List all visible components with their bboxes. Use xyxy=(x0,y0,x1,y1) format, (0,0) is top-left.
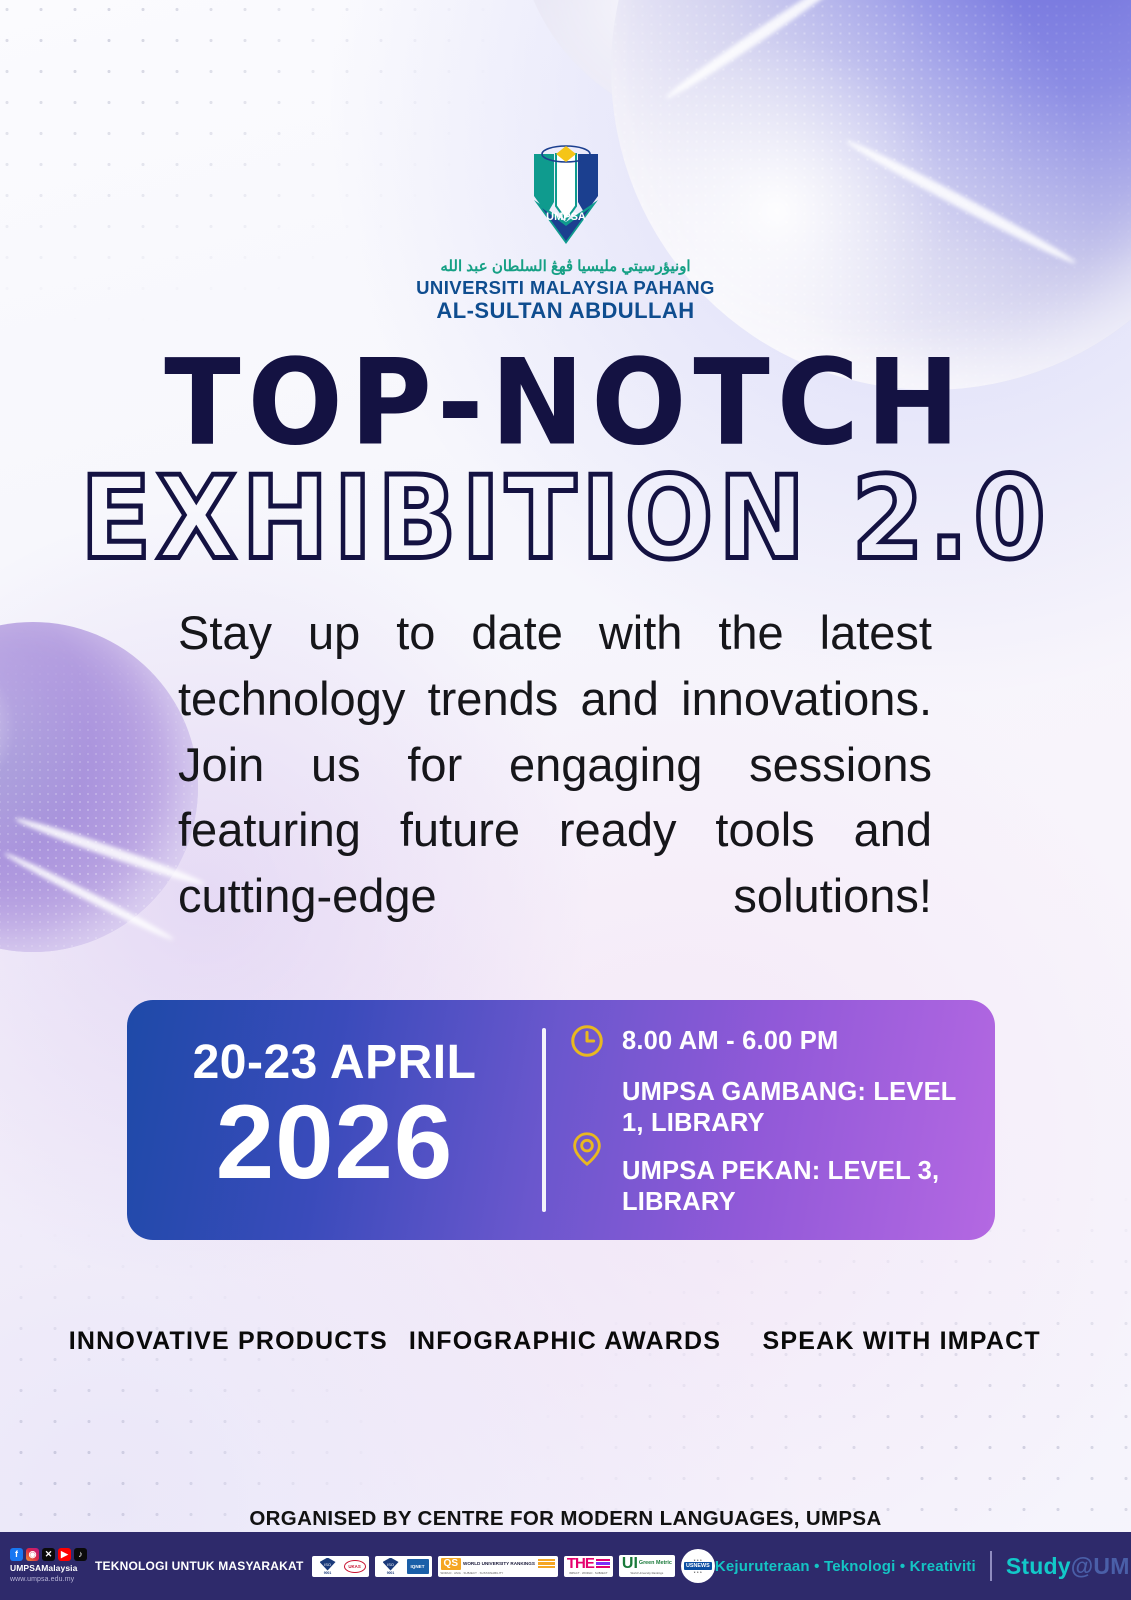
qs-logo-top: QS WORLD UNIVERSITY RANKINGS xyxy=(441,1558,555,1570)
the-caption: IMPACT · WORLD · SUBJECT xyxy=(569,1571,607,1575)
the-bar-graphic xyxy=(596,1559,610,1569)
footer-divider-1 xyxy=(990,1551,992,1581)
event-time-row: 8.00 AM - 6.00 PM xyxy=(568,1022,969,1060)
light-streak xyxy=(2,849,175,943)
logo-line-1: UNIVERSITI MALAYSIA PAHANG xyxy=(0,277,1131,299)
title-line-1: TOP-NOTCH xyxy=(0,347,1131,460)
dot-pattern-bottom-left xyxy=(0,1220,410,1520)
social-column: f ◉ ✕ ▶ ♪ UMPSAMalaysia www.umpsa.edu.my xyxy=(10,1548,87,1584)
ui-caption: World University Rankings xyxy=(631,1571,664,1575)
ukas-mark: UKAS xyxy=(344,1560,366,1573)
ui-mark: UI xyxy=(622,1557,638,1571)
light-streak xyxy=(662,0,859,103)
iso-ukas-cert-badge: ISO 9001 UKAS xyxy=(312,1556,369,1577)
footer-bar: f ◉ ✕ ▶ ♪ UMPSAMalaysia www.umpsa.edu.my… xyxy=(0,1532,1131,1600)
qs-rankings-logo: QS WORLD UNIVERSITY RANKINGS WORLD · ASI… xyxy=(438,1556,558,1577)
description-text: Stay up to date with the latest technolo… xyxy=(178,600,932,995)
qs-bar-graphic xyxy=(538,1559,555,1568)
qs-caption: WORLD · ASIA · SUBJECT · SUSTAINABILITY xyxy=(441,1571,555,1575)
qs-mark: QS xyxy=(441,1558,461,1570)
iso-standard-number: 9001 xyxy=(324,1571,332,1575)
iso-iqnet-cert-badge: ISO 9001 IQNET xyxy=(375,1556,432,1577)
usnews-mark: USNEWS xyxy=(684,1562,712,1570)
event-time: 8.00 AM - 6.00 PM xyxy=(622,1026,838,1057)
umpsa-shield-icon: UMPSA xyxy=(516,140,616,250)
the-mark: THE xyxy=(567,1558,594,1570)
event-date-block: 20-23 APRIL 2026 xyxy=(127,1000,542,1240)
tiktok-icon[interactable]: ♪ xyxy=(74,1548,87,1561)
social-icon-row: f ◉ ✕ ▶ ♪ xyxy=(10,1548,87,1561)
iso-badge-2: ISO 9001 xyxy=(378,1558,404,1575)
location-pin-icon xyxy=(568,1129,606,1167)
logo-arabic-text: اونيؤرسيتي مليسيا ڤهڠ السلطان عبد الله xyxy=(0,257,1131,275)
footer-brand-block: Kejuruteraan • Teknologi • Kreativiti St… xyxy=(715,1551,1131,1581)
facebook-icon[interactable]: f xyxy=(10,1548,23,1561)
event-venue-pekan: UMPSA PEKAN: LEVEL 3, LIBRARY xyxy=(622,1156,969,1218)
organiser-line: ORGANISED BY CENTRE FOR MODERN LANGUAGES… xyxy=(0,1507,1131,1531)
usnews-badge: ★ ★ ★ USNEWS ★ ★ ★ xyxy=(681,1549,715,1583)
event-venue-gambang: UMPSA GAMBANG: LEVEL 1, LIBRARY xyxy=(622,1077,969,1139)
title-line-2: EXHIBITION 2.0 xyxy=(0,461,1131,575)
poster-title: TOP-NOTCH EXHIBITION 2.0 xyxy=(0,350,1131,570)
website-url: www.umpsa.edu.my xyxy=(10,1576,87,1584)
ui-logo-top: UI Green Metric xyxy=(622,1557,672,1571)
iso-badge: ISO 9001 xyxy=(315,1558,341,1575)
umpsa-word: @UMPSA xyxy=(1071,1553,1131,1579)
feature-innovative-products: INNOVATIVE PRODUCTS xyxy=(60,1325,397,1358)
study-umpsa-logo: Study@UMPSA xyxy=(1006,1553,1131,1580)
footer-social-block: f ◉ ✕ ▶ ♪ UMPSAMalaysia www.umpsa.edu.my… xyxy=(10,1548,304,1584)
event-info-card: 20-23 APRIL 2026 8.00 AM - 6.00 PM UMPSA… xyxy=(127,1000,995,1240)
iso-diamond-icon-2: ISO xyxy=(383,1558,399,1571)
iso-standard-number-2: 9001 xyxy=(387,1571,395,1575)
feature-infographic-awards: INFOGRAPHIC AWARDS xyxy=(397,1325,734,1358)
youtube-icon[interactable]: ▶ xyxy=(58,1548,71,1561)
qs-wordmark: WORLD UNIVERSITY RANKINGS xyxy=(463,1561,535,1566)
event-details-block: 8.00 AM - 6.00 PM UMPSA GAMBANG: LEVEL 1… xyxy=(546,1000,995,1240)
event-date-range: 20-23 APRIL xyxy=(193,1039,477,1087)
x-icon[interactable]: ✕ xyxy=(42,1548,55,1561)
footer-motto: Kejuruteraan • Teknologi • Kreativiti xyxy=(715,1558,976,1575)
clock-icon xyxy=(568,1022,606,1060)
iqnet-mark: IQNET xyxy=(407,1559,429,1574)
event-year: 2026 xyxy=(216,1089,454,1196)
feature-list: INNOVATIVE PRODUCTS INFOGRAPHIC AWARDS S… xyxy=(60,1325,1070,1358)
svg-text:UMPSA: UMPSA xyxy=(546,211,586,223)
decorative-sphere-left xyxy=(0,622,198,952)
ui-greenmetric-logo: UI Green Metric World University Ranking… xyxy=(619,1555,675,1577)
the-rankings-logo: THE IMPACT · WORLD · SUBJECT xyxy=(564,1556,613,1577)
iso-diamond-icon: ISO xyxy=(320,1558,336,1571)
logo-line-2: AL-SULTAN ABDULLAH xyxy=(0,298,1131,324)
event-venue-lines: UMPSA GAMBANG: LEVEL 1, LIBRARY UMPSA PE… xyxy=(622,1077,969,1217)
study-word: Study xyxy=(1006,1553,1071,1579)
accreditation-logos: ISO 9001 UKAS ISO 9001 IQNET QS WORLD UN… xyxy=(312,1549,715,1583)
poster: UMPSA اونيؤرسيتي مليسيا ڤهڠ السلطان عبد … xyxy=(0,0,1131,1600)
decorative-sphere-top-small xyxy=(516,0,946,130)
greenmetric-wordmark: Green Metric xyxy=(639,1561,672,1567)
usnews-bottom-arc: ★ ★ ★ xyxy=(693,1570,702,1574)
instagram-icon[interactable]: ◉ xyxy=(26,1548,39,1561)
event-venue-row: UMPSA GAMBANG: LEVEL 1, LIBRARY UMPSA PE… xyxy=(568,1077,969,1217)
social-handle: UMPSAMalaysia xyxy=(10,1564,87,1573)
umpsa-logo: UMPSA اونيؤرسيتي مليسيا ڤهڠ السلطان عبد … xyxy=(0,140,1131,324)
feature-speak-with-impact: SPEAK WITH IMPACT xyxy=(733,1325,1070,1358)
footer-tagline: TEKNOLOGI UNTUK MASYARAKAT xyxy=(95,1560,304,1573)
the-logo-top: THE xyxy=(567,1558,610,1570)
